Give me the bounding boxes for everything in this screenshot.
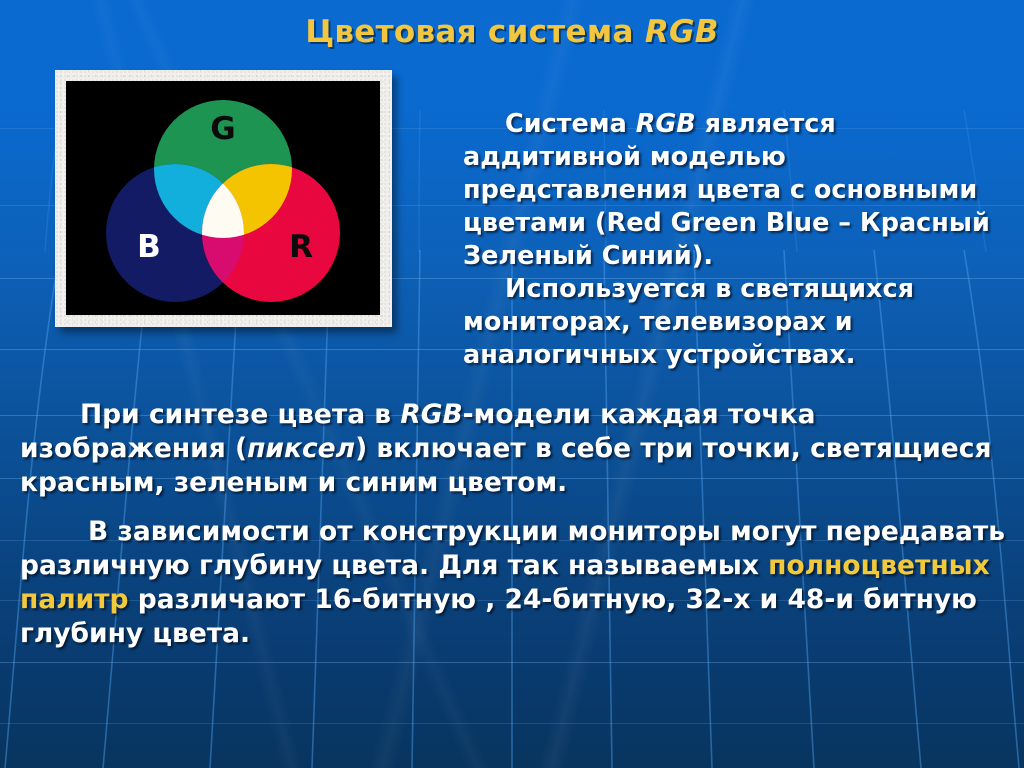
label-green: G	[210, 111, 235, 147]
rgb-additive-venn-diagram: G B R	[66, 81, 380, 315]
paragraph-synthesis: При синтезе цвета в RGB-модели каждая то…	[20, 398, 1010, 500]
intro-rgb-italic: RGB	[636, 109, 696, 139]
depth-text-b: различают 16-битную , 24-битную, 32-х и …	[20, 584, 977, 649]
synth-rgb-italic: RGB	[400, 399, 462, 430]
title-prefix: Цветовая система	[305, 14, 645, 50]
intro-sentence-1-a: Система	[505, 109, 636, 139]
slide-canvas: Цветовая система RGB	[0, 0, 1024, 768]
label-blue: B	[137, 229, 161, 265]
globe-latitude-line	[0, 662, 1024, 663]
globe-latitude-line	[0, 723, 1024, 724]
paragraph-color-depth: В зависимости от конструкции мониторы мо…	[20, 515, 1016, 651]
label-red: R	[289, 229, 313, 265]
intro-sentence-2: Используется в светящихся мониторах, тел…	[463, 273, 1011, 372]
synth-pixel-italic: пиксел	[247, 433, 355, 464]
paragraph-intro: Система RGB является аддитивной моделью …	[463, 108, 1011, 372]
synth-text-a: При синтезе цвета в	[80, 399, 400, 430]
rgb-diagram-frame: G B R	[55, 70, 392, 327]
title-accent: RGB	[645, 14, 719, 50]
page-title: Цветовая система RGB	[0, 14, 1024, 50]
